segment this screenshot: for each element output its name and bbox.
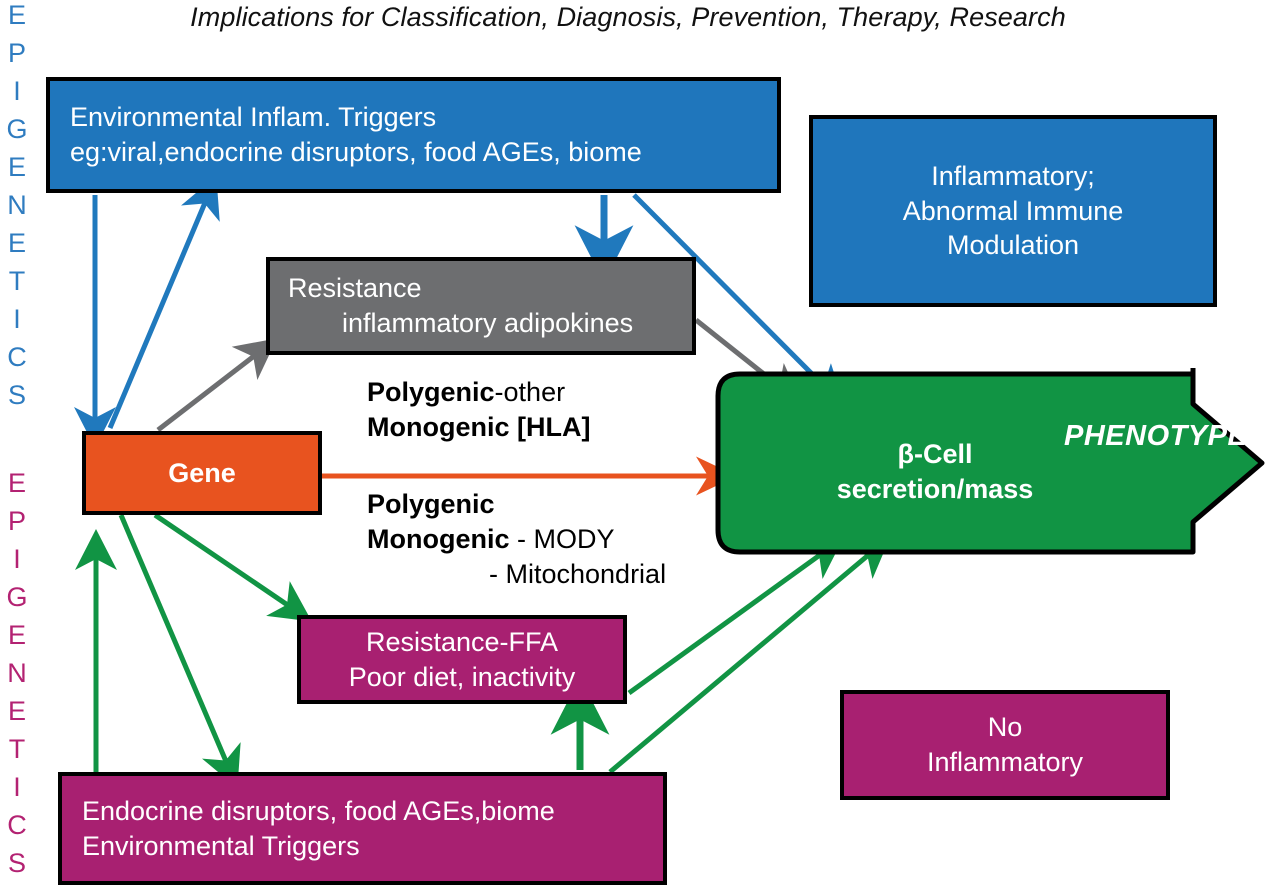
diagram-canvas: E P I G E N E T I C S E P I G E N E T I … (0, 0, 1280, 885)
side-letter: T (9, 268, 26, 295)
side-letter: S (8, 850, 26, 877)
label-bold: Monogenic [HLA] (367, 412, 590, 442)
label-bold: Monogenic (367, 524, 510, 554)
label-bold: Polygenic (367, 489, 495, 519)
box-resistance-ffa[interactable]: Resistance-FFA Poor diet, inactivity (297, 615, 627, 704)
side-letter: C (7, 344, 27, 371)
side-letter: I (13, 306, 21, 333)
label-line: Polygenic-other (367, 375, 590, 410)
box-inflammatory-legend[interactable]: Inflammatory; Abnormal Immune Modulation (809, 115, 1217, 307)
label-rest: -other (495, 377, 566, 407)
label-line: Monogenic [HLA] (367, 410, 590, 445)
side-letter: P (8, 40, 26, 67)
side-letter: G (6, 584, 27, 611)
side-letter: E (8, 154, 26, 181)
side-letter: E (8, 622, 26, 649)
side-letter: E (8, 470, 26, 497)
side-letter: N (7, 192, 27, 219)
box-line: inflammatory adipokines (288, 306, 633, 341)
side-letter: P (8, 508, 26, 535)
phenotype-arrow-label: PHENOTYPE (1064, 420, 1247, 453)
label-rest: - Mitochondrial (489, 559, 666, 589)
side-letter: I (13, 78, 21, 105)
box-line: Inflammatory; (931, 159, 1095, 194)
box-line: Gene (168, 456, 236, 491)
box-line: eg:viral,endocrine disruptors, food AGEs… (70, 135, 642, 170)
box-no-inflammatory-legend[interactable]: No Inflammatory (840, 690, 1170, 800)
box-line: No (988, 710, 1023, 745)
box-line: Inflammatory (927, 745, 1083, 780)
page-title: Implications for Classification, Diagnos… (78, 2, 1178, 33)
phenotype-label: β-Cell secretion/mass (815, 437, 1055, 507)
edge-gene-to-env (110, 198, 207, 428)
side-letter: E (8, 2, 26, 29)
box-gene[interactable]: Gene (82, 431, 322, 515)
side-letter: T (9, 736, 26, 763)
side-letter: C (7, 812, 27, 839)
box-line: Resistance (288, 271, 422, 306)
label-line: Monogenic - MODY (367, 522, 666, 557)
box-endocrine-triggers-bottom[interactable]: Endocrine disruptors, food AGEs,biome En… (58, 772, 667, 885)
label-rest: - MODY (510, 524, 615, 554)
box-environmental-triggers-top[interactable]: Environmental Inflam. Triggers eg:viral,… (46, 77, 781, 193)
box-line: Resistance-FFA (366, 625, 558, 660)
box-line: Environmental Inflam. Triggers (70, 100, 436, 135)
edge-gene-to-endocrine (121, 515, 228, 766)
phenotype-line-2: secretion/mass (837, 474, 1034, 504)
side-letter: S (8, 382, 26, 409)
side-letter: E (8, 698, 26, 725)
label-polygenic-monogenic-lower: Polygenic Monogenic - MODY - Mitochondri… (367, 487, 666, 592)
box-line: Endocrine disruptors, food AGEs,biome (82, 794, 555, 829)
side-label-epigenetics-top: E P I G E N E T I C S (0, 2, 34, 420)
side-label-epigenetics-bottom: E P I G E N E T I C S (0, 470, 34, 885)
side-letter: E (8, 230, 26, 257)
label-polygenic-monogenic-upper: Polygenic-other Monogenic [HLA] (367, 375, 590, 445)
box-line: Poor diet, inactivity (349, 660, 576, 695)
box-line: Modulation (947, 228, 1079, 263)
box-line: Abnormal Immune (903, 194, 1124, 229)
edge-gene-to-resistance (158, 353, 258, 430)
side-letter: G (6, 116, 27, 143)
box-resistance-adipokines[interactable]: Resistance inflammatory adipokines (266, 257, 696, 355)
label-line: Polygenic (367, 487, 666, 522)
side-letter: N (7, 660, 27, 687)
side-letter: I (13, 546, 21, 573)
edge-gene-to-ffa (155, 515, 292, 608)
label-bold: Polygenic (367, 377, 495, 407)
box-line: Environmental Triggers (82, 829, 360, 864)
phenotype-line-1: β-Cell (898, 439, 973, 469)
side-letter: I (13, 774, 21, 801)
label-line: - Mitochondrial (367, 557, 666, 592)
